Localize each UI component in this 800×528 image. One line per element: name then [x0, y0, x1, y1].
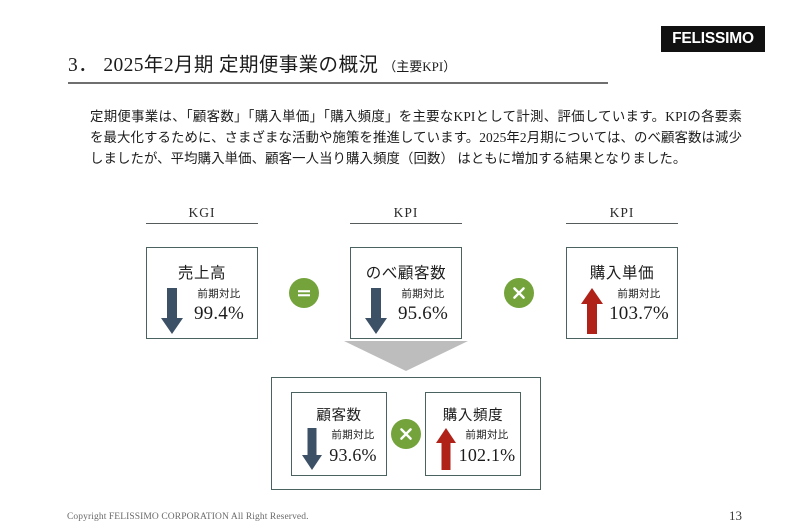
metric-box-price: 購入単価 前期対比 103.7%: [566, 247, 678, 339]
arrow-up-icon: [581, 288, 603, 334]
page-title-sub: （主要KPI）: [383, 56, 456, 75]
footer-copyright: Copyright FELISSIMO CORPORATION All Righ…: [67, 512, 309, 522]
body-paragraph: 定期便事業は、「顧客数」「購入単価」「購入頻度」を主要なKPIとして計測、評価し…: [90, 106, 742, 169]
metric-value-sales: 99.4%: [187, 302, 251, 326]
metric-box-users: のべ顧客数 前期対比 95.6%: [350, 247, 462, 339]
page-number: 13: [729, 508, 742, 524]
title-underline: [68, 82, 608, 84]
metric-compare-label-sales: 前期対比: [187, 288, 251, 301]
arrow-down-icon: [161, 288, 183, 334]
connector-arrow-down-icon: [344, 341, 468, 371]
arrow-up-icon: [436, 428, 456, 470]
metric-box-customers: 顧客数 前期対比 93.6%: [291, 392, 387, 476]
column-header-underline: [566, 223, 678, 224]
metric-title-price: 購入単価: [567, 261, 677, 283]
column-header-kpi-2: KPI: [566, 205, 678, 224]
logo-text: FELISSIMO: [672, 31, 754, 47]
multiply-badge: [504, 278, 534, 308]
felissimo-logo: FELISSIMO: [661, 26, 765, 52]
column-header-underline: [146, 223, 258, 224]
page-title: 3． 2025年2月期 定期便事業の概況 （主要KPI）: [68, 48, 608, 84]
arrow-down-icon: [302, 428, 322, 470]
metric-value-price: 103.7%: [607, 302, 671, 326]
metric-compare-label-price: 前期対比: [607, 288, 671, 301]
multiply-badge: [391, 419, 421, 449]
metric-compare-label-customers: 前期対比: [324, 429, 382, 442]
metric-box-frequency: 購入頻度 前期対比 102.1%: [425, 392, 521, 476]
metric-title-users: のべ顧客数: [351, 261, 461, 283]
metric-value-users: 95.6%: [391, 302, 455, 326]
metric-compare-label-frequency: 前期対比: [458, 429, 516, 442]
column-header-underline: [350, 223, 462, 224]
slide-canvas: FELISSIMO 3． 2025年2月期 定期便事業の概況 （主要KPI） 定…: [0, 0, 800, 528]
column-header-kpi-1: KPI: [350, 205, 462, 224]
equals-badge: [289, 278, 319, 308]
page-title-main: 3． 2025年2月期 定期便事業の概況: [68, 48, 378, 77]
metric-value-customers: 93.6%: [324, 443, 382, 467]
metric-compare-label-users: 前期対比: [391, 288, 455, 301]
metric-value-frequency: 102.1%: [458, 443, 516, 467]
column-header-kgi-label: KGI: [146, 205, 258, 221]
metric-title-frequency: 購入頻度: [426, 404, 520, 425]
arrow-down-icon: [365, 288, 387, 334]
metric-box-sales: 売上高 前期対比 99.4%: [146, 247, 258, 339]
column-header-kpi-2-label: KPI: [566, 205, 678, 221]
metric-title-sales: 売上高: [147, 261, 257, 283]
column-header-kgi: KGI: [146, 205, 258, 224]
metric-title-customers: 顧客数: [292, 404, 386, 425]
column-header-kpi-1-label: KPI: [350, 205, 462, 221]
